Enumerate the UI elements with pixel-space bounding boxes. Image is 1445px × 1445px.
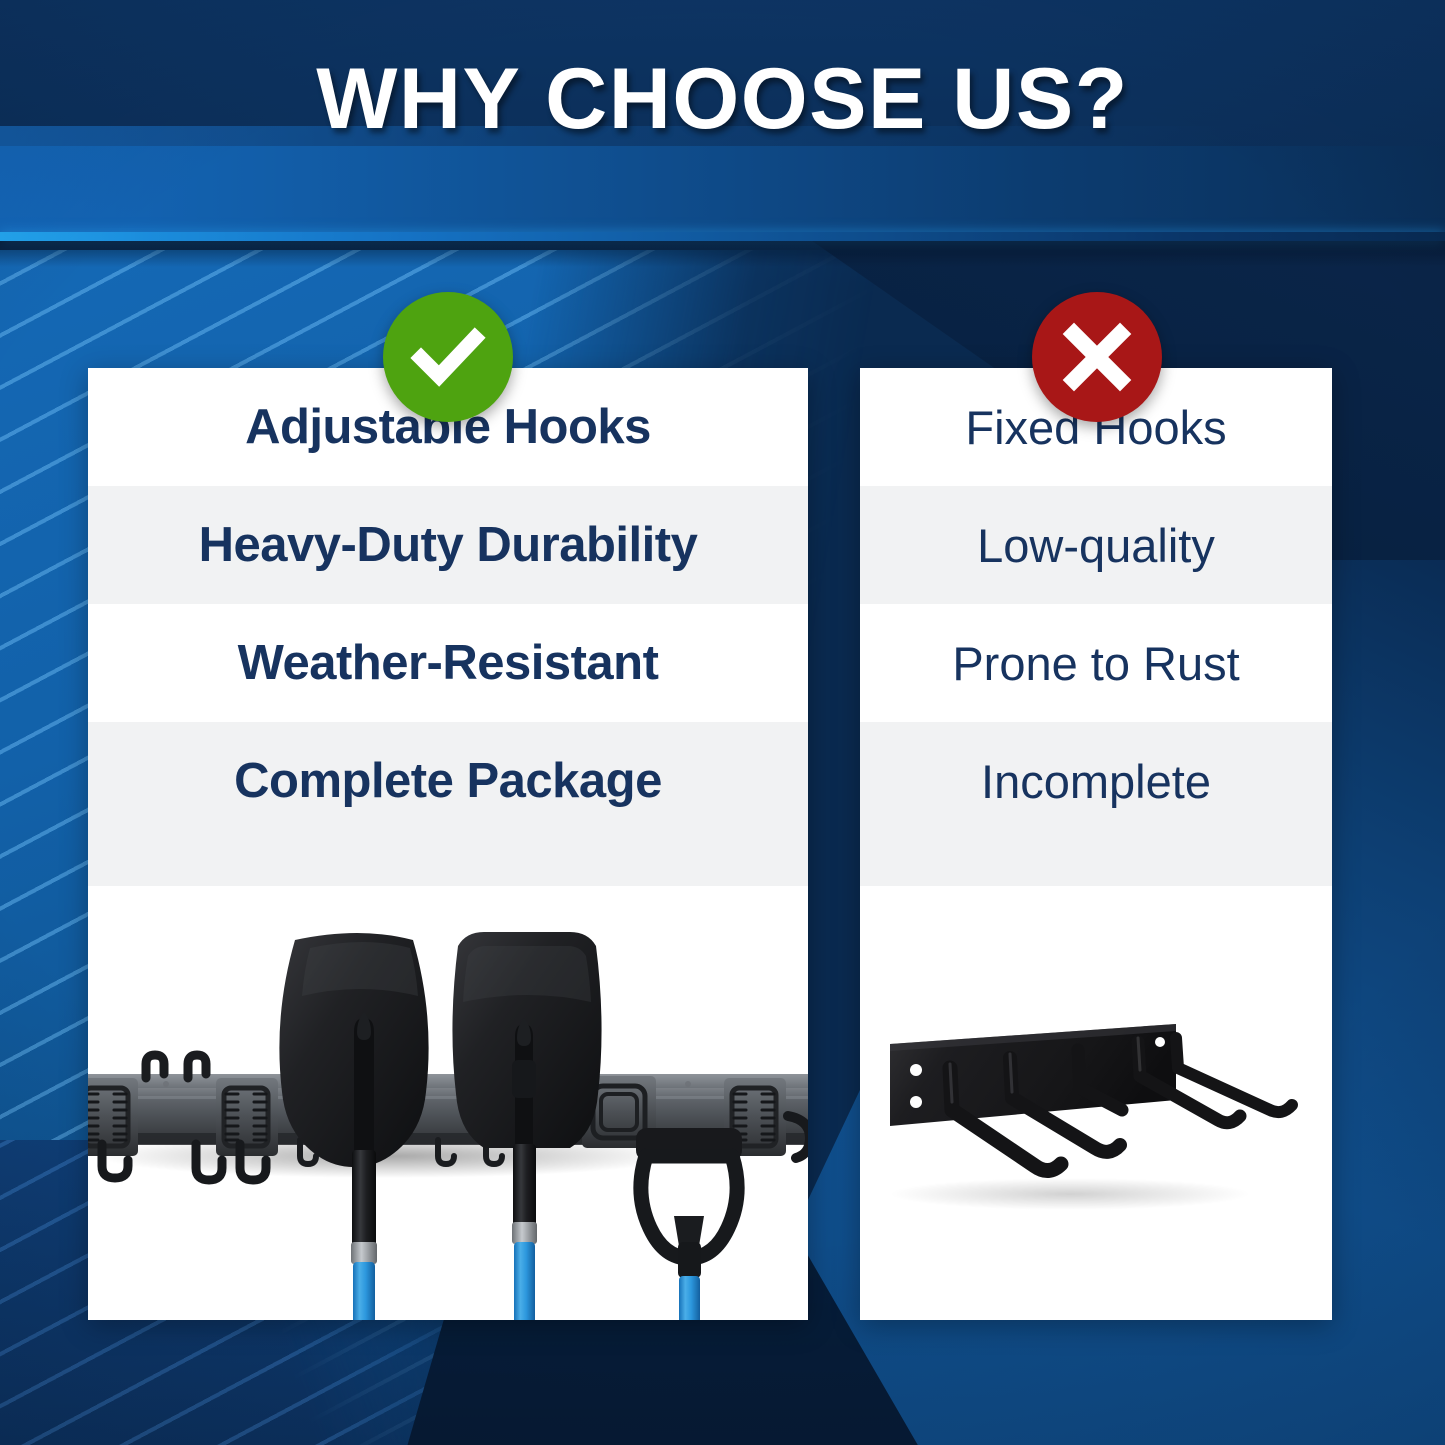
- pros-row-list: Adjustable Hooks Heavy-Duty Durability W…: [88, 368, 808, 886]
- pros-row-spacer: [88, 840, 808, 886]
- page-title: WHY CHOOSE US?: [316, 50, 1129, 149]
- cross-badge: [1032, 292, 1162, 422]
- pros-row-3: Weather-Resistant: [88, 604, 808, 722]
- cross-icon: [1062, 322, 1132, 392]
- pros-label-4: Complete Package: [234, 757, 662, 806]
- cons-label-4: Incomplete: [981, 758, 1211, 805]
- check-badge: [383, 292, 513, 422]
- check-icon: [409, 318, 487, 396]
- cons-panel: Fixed Hooks Low-quality Prone to Rust In…: [860, 368, 1332, 1320]
- cons-product-image: [860, 998, 1332, 1238]
- cons-row-2: Low-quality: [860, 486, 1332, 604]
- cons-label-2: Low-quality: [977, 522, 1215, 569]
- pros-row-4: Complete Package: [88, 722, 808, 840]
- comparison-panels: Adjustable Hooks Heavy-Duty Durability W…: [0, 0, 1445, 1445]
- pros-panel: Adjustable Hooks Heavy-Duty Durability W…: [88, 368, 808, 1320]
- pros-label-3: Weather-Resistant: [238, 639, 659, 688]
- header: WHY CHOOSE US?: [0, 44, 1445, 154]
- pros-label-2: Heavy-Duty Durability: [199, 521, 698, 570]
- cons-row-list: Fixed Hooks Low-quality Prone to Rust In…: [860, 368, 1332, 886]
- cons-row-4: Incomplete: [860, 722, 1332, 840]
- cons-label-3: Prone to Rust: [952, 640, 1239, 687]
- cons-row-3: Prone to Rust: [860, 604, 1332, 722]
- pros-row-2: Heavy-Duty Durability: [88, 486, 808, 604]
- pros-product-image: [88, 928, 808, 1320]
- cons-row-spacer: [860, 840, 1332, 886]
